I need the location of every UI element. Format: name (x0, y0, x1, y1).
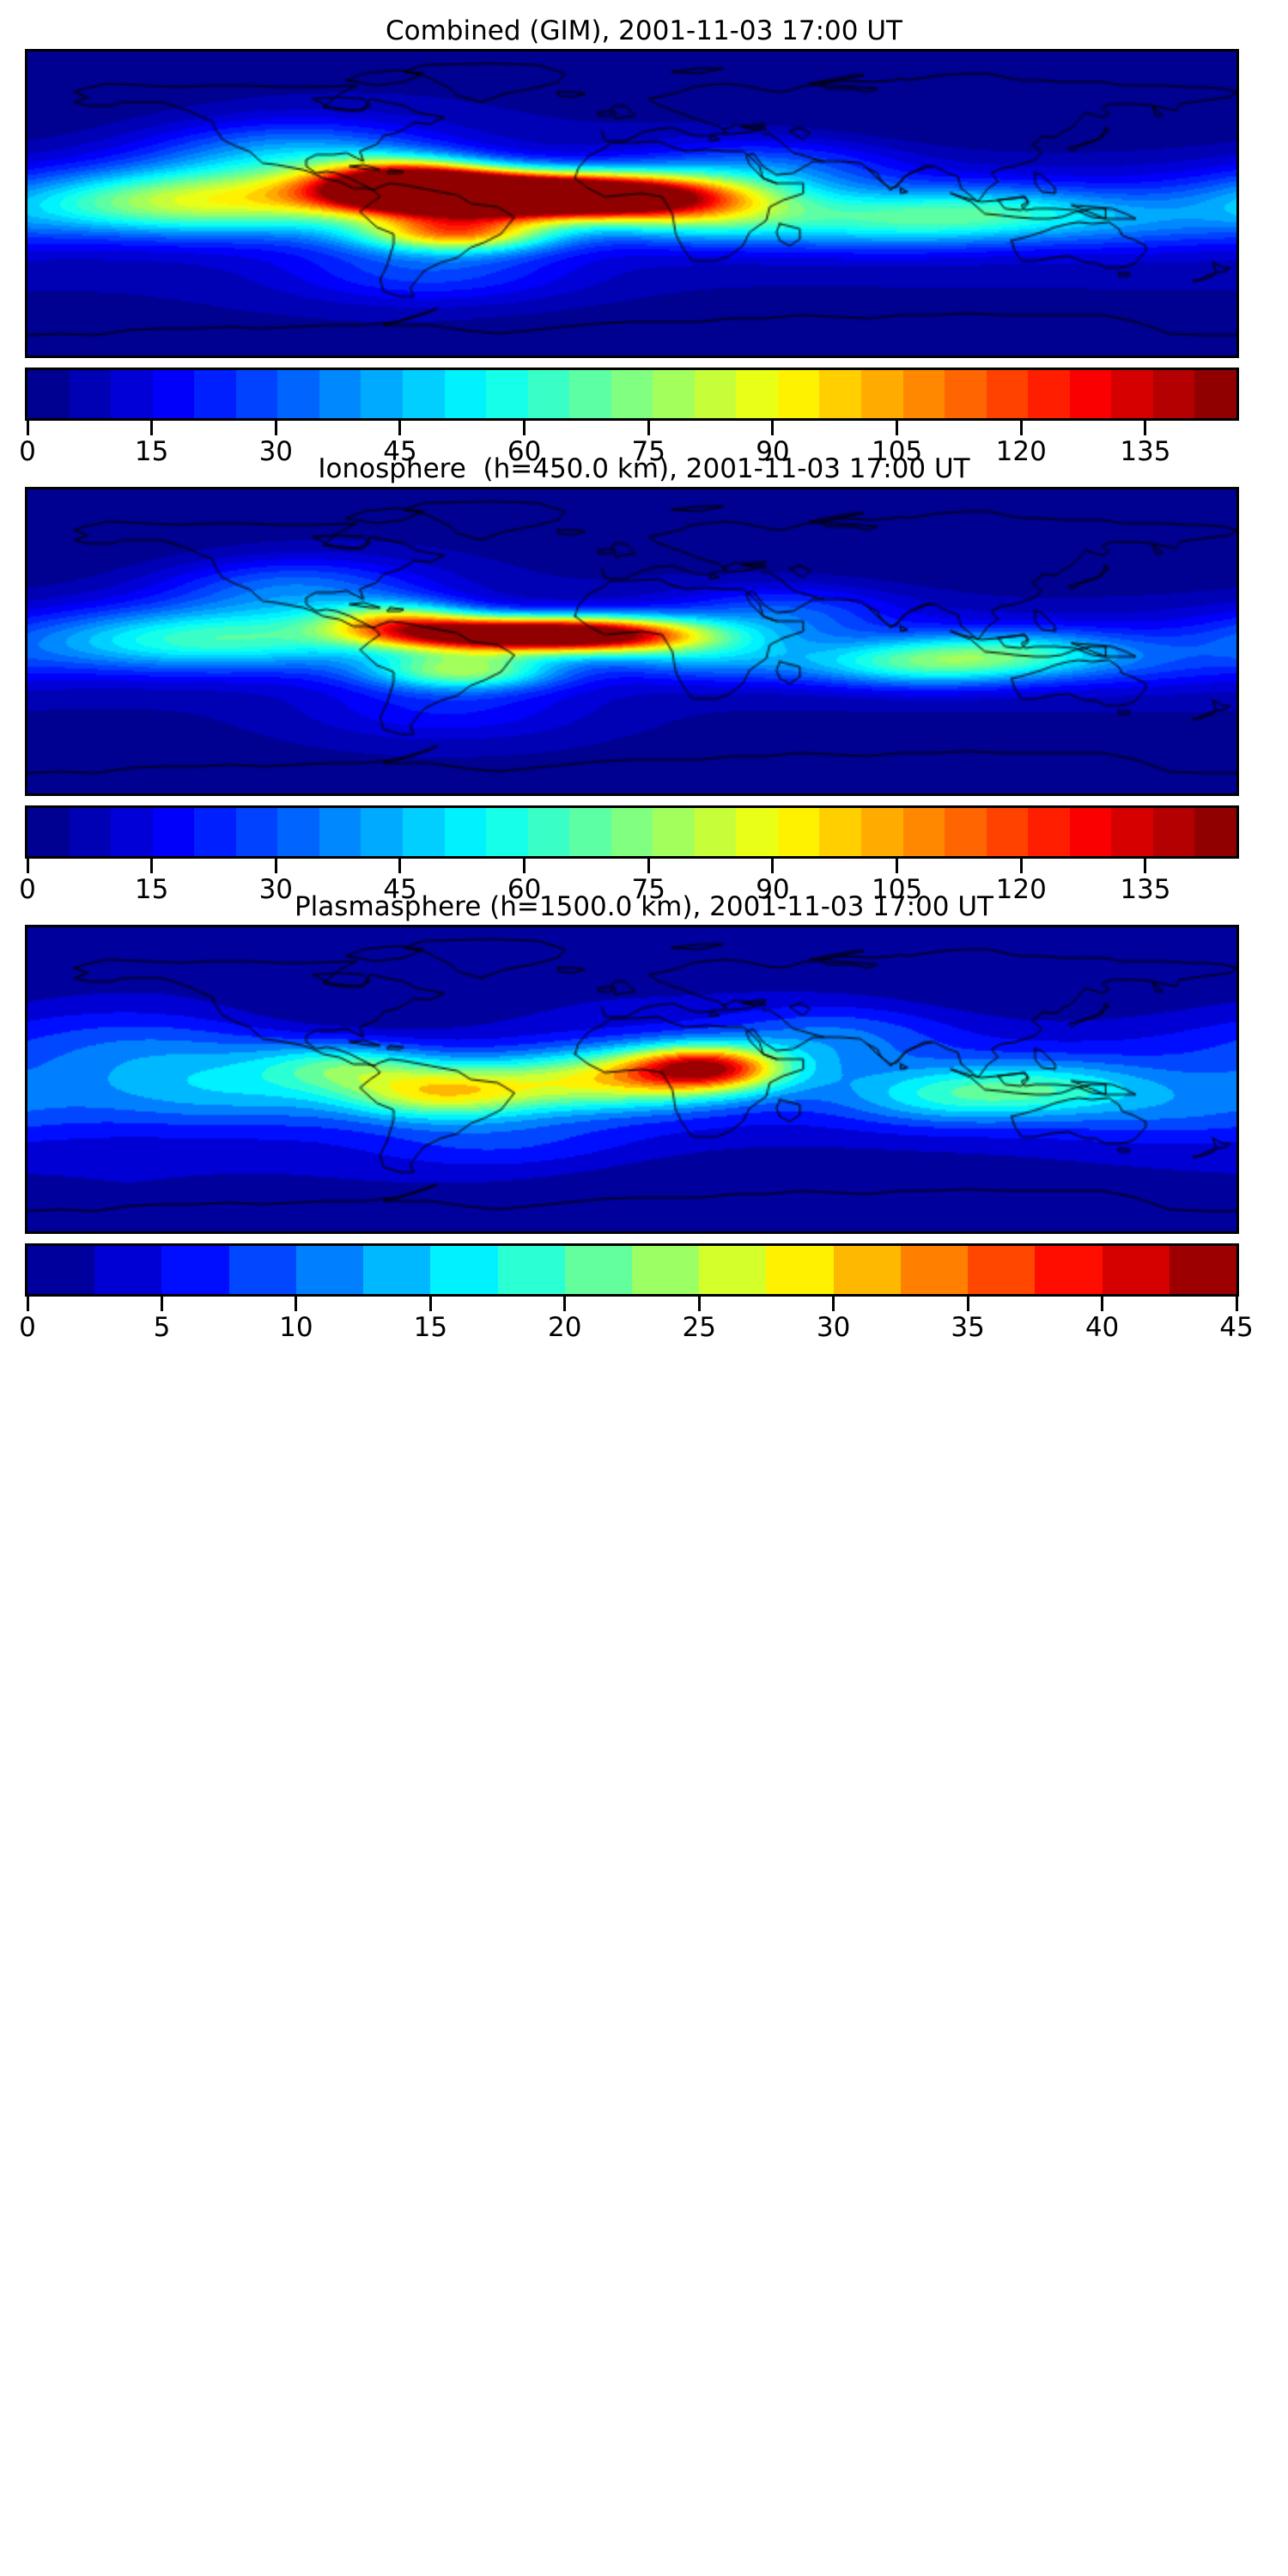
colorbar-segment (565, 1246, 634, 1294)
colorbar-segment (1153, 808, 1196, 856)
colorbar-segment (903, 808, 946, 856)
colorbar-segment (403, 808, 446, 856)
colorbar-segment (194, 808, 237, 856)
colorbar-tick (832, 1297, 835, 1311)
colorbar-segment (653, 370, 696, 418)
colorbar-tick-label: 35 (951, 1312, 984, 1343)
colorbar-tick (647, 421, 650, 435)
colorbar-ticks (25, 1297, 1239, 1312)
colorbar-segment (528, 808, 571, 856)
colorbar-segment (70, 808, 112, 856)
colorbar-tick (771, 421, 774, 435)
colorbar-segment (528, 370, 571, 418)
colorbar-segment (1194, 370, 1237, 418)
colorbar-segment (111, 808, 154, 856)
colorbar-segment (403, 370, 446, 418)
colorbar-segment (834, 1246, 902, 1294)
colorbar-segment (70, 370, 112, 418)
colorbar-plasmasphere: 051015202530354045 (25, 1243, 1239, 1350)
colorbar-segment (498, 1246, 567, 1294)
colorbar-segment (111, 370, 154, 418)
colorbar-gradient (25, 805, 1239, 859)
colorbar-ticks (25, 859, 1239, 874)
colorbar-segment (766, 1246, 835, 1294)
colorbar-segment (194, 370, 237, 418)
colorbar-tick (398, 859, 401, 873)
colorbar-segment (363, 1246, 432, 1294)
colorbar-segment (1028, 370, 1071, 418)
colorbar-tick (1144, 859, 1146, 873)
colorbar-segment (319, 808, 362, 856)
colorbar-segment (445, 370, 488, 418)
colorbar-segment (94, 1246, 163, 1294)
colorbar-tick-label: 15 (414, 1312, 447, 1343)
colorbar-segment (1194, 808, 1237, 856)
colorbar-segment (903, 370, 946, 418)
colorbar-tick (161, 1297, 163, 1311)
colorbar-tick-label: 20 (548, 1312, 581, 1343)
colorbar-segment (1028, 808, 1071, 856)
colorbar-segment (987, 808, 1030, 856)
colorbar-segment (819, 370, 862, 418)
colorbar-segment (486, 370, 529, 418)
colorbar-segment (153, 808, 196, 856)
colorbar-segment (653, 808, 696, 856)
page-title: Combined (GIM), 2001-11-03 17:00 UT (0, 15, 1288, 46)
colorbar-segment (236, 808, 279, 856)
tec-heatmap-ionosphere (27, 489, 1236, 793)
colorbar-gradient (25, 1243, 1239, 1297)
colorbar-segment (296, 1246, 365, 1294)
colorbar-ticks (25, 421, 1239, 436)
colorbar-segment (736, 370, 779, 418)
colorbar-segment (1153, 370, 1196, 418)
colorbar-tick (647, 859, 650, 873)
page-title: Plasmasphere (h=1500.0 km), 2001-11-03 1… (0, 891, 1288, 922)
colorbar-tick (27, 421, 29, 435)
colorbar-segment (632, 1246, 701, 1294)
colorbar-tick (1236, 1297, 1238, 1311)
colorbar-segment (699, 1246, 768, 1294)
colorbar-tick-label: 45 (1219, 1312, 1253, 1343)
colorbar-tick-label: 25 (682, 1312, 715, 1343)
colorbar-tick (896, 421, 898, 435)
colorbar-segment (229, 1246, 298, 1294)
colorbar-segment (861, 370, 904, 418)
tec-figure: Combined (GIM), 2001-11-03 17:00 UT 0153… (0, 0, 1288, 2576)
colorbar-segment (778, 370, 821, 418)
colorbar-segment (778, 808, 821, 856)
colorbar-tick-labels: 051015202530354045 (25, 1312, 1239, 1350)
colorbar-segment (445, 808, 488, 856)
colorbar-tick (698, 1297, 701, 1311)
colorbar-tick (523, 421, 526, 435)
colorbar-tick (27, 859, 29, 873)
colorbar-segment (611, 808, 654, 856)
colorbar-segment (319, 370, 362, 418)
colorbar-segment (1035, 1246, 1103, 1294)
colorbar-segment (1070, 808, 1113, 856)
map-axes-plasmasphere (25, 925, 1239, 1234)
tec-heatmap-plasmasphere (27, 927, 1236, 1231)
colorbar-tick (1020, 421, 1023, 435)
colorbar-tick (398, 421, 401, 435)
colorbar-tick-label: 40 (1085, 1312, 1119, 1343)
colorbar-segment (611, 370, 654, 418)
colorbar-segment (277, 370, 320, 418)
colorbar-segment (430, 1246, 499, 1294)
colorbar-tick (523, 859, 526, 873)
colorbar-gradient (25, 368, 1239, 421)
colorbar-segment (27, 1246, 96, 1294)
colorbar-tick (896, 859, 898, 873)
colorbar-segment (968, 1246, 1036, 1294)
colorbar-segment (1111, 370, 1154, 418)
colorbar-tick (27, 1297, 29, 1311)
colorbar-segment (277, 808, 320, 856)
colorbar-tick (275, 859, 277, 873)
colorbar-segment (361, 370, 404, 418)
colorbar-segment (1103, 1246, 1171, 1294)
colorbar-segment (736, 808, 779, 856)
colorbar-tick-label: 0 (19, 1312, 36, 1343)
colorbar-segment (695, 370, 738, 418)
colorbar-tick-label: 30 (817, 1312, 850, 1343)
colorbar-tick (429, 1297, 432, 1311)
colorbar-segment (901, 1246, 969, 1294)
colorbar-tick-label: 10 (279, 1312, 313, 1343)
colorbar-segment (1070, 370, 1113, 418)
colorbar-tick (967, 1297, 969, 1311)
colorbar-segment (987, 370, 1030, 418)
colorbar-tick (295, 1297, 297, 1311)
colorbar-segment (27, 370, 70, 418)
colorbar-segment (569, 370, 612, 418)
colorbar-segment (161, 1246, 230, 1294)
colorbar-segment (819, 808, 862, 856)
colorbar-segment (361, 808, 404, 856)
map-axes-ionosphere (25, 487, 1239, 796)
colorbar-tick (1020, 859, 1023, 873)
colorbar-segment (153, 370, 196, 418)
tec-heatmap-combined (27, 52, 1236, 355)
colorbar-tick (150, 421, 153, 435)
colorbar-segment (945, 808, 987, 856)
colorbar-segment (569, 808, 612, 856)
colorbar-segment (1170, 1246, 1238, 1294)
colorbar-segment (486, 808, 529, 856)
colorbar-tick (771, 859, 774, 873)
colorbar-segment (236, 370, 279, 418)
colorbar-tick (563, 1297, 566, 1311)
colorbar-segment (27, 808, 70, 856)
colorbar-tick (1101, 1297, 1103, 1311)
colorbar-segment (1111, 808, 1154, 856)
colorbar-tick-label: 5 (154, 1312, 171, 1343)
page-title: Ionosphere (h=450.0 km), 2001-11-03 17:0… (0, 453, 1288, 484)
colorbar-tick (1144, 421, 1146, 435)
map-axes-combined (25, 49, 1239, 358)
colorbar-tick (275, 421, 277, 435)
colorbar-segment (861, 808, 904, 856)
plasmasphere-panel: Plasmasphere (h=1500.0 km), 2001-11-03 1… (0, 876, 1288, 1752)
colorbar-segment (695, 808, 738, 856)
colorbar-tick (150, 859, 153, 873)
colorbar-segment (945, 370, 987, 418)
